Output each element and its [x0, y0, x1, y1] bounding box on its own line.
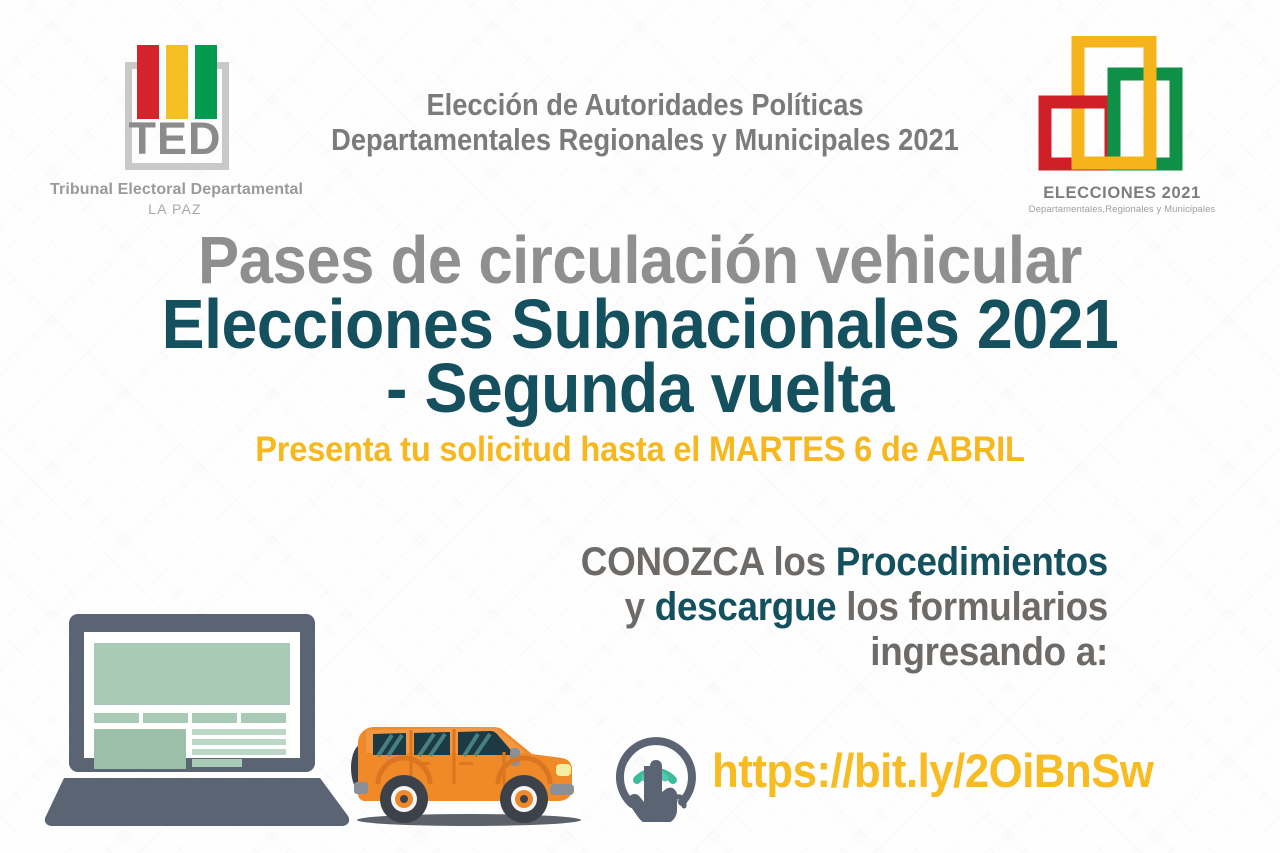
elecciones-2021-emblem: ELECCIONES 2021 Departamentales,Regional… — [1022, 36, 1222, 215]
headline-line-2: Elecciones Subnacionales 2021 — [51, 290, 1229, 359]
cta-line1-plain: CONOZCA los — [581, 540, 836, 584]
cta-line2-plain-a: y — [625, 585, 655, 629]
ted-logo: TED Tribunal Electoral Departamental LA … — [50, 45, 300, 217]
emblem-title: ELECCIONES 2021 — [1022, 184, 1222, 203]
ted-logo-frame-top-right — [215, 62, 229, 69]
suv-car-illustration — [344, 706, 589, 836]
ted-bar-green — [195, 45, 217, 119]
ted-bar-red — [137, 45, 159, 119]
headline-deadline: Presenta tu solicitud hasta el MARTES 6 … — [45, 433, 1235, 467]
header-title-line2: Departamentales Regionales y Municipales… — [306, 123, 984, 158]
cta-line1-emphasis: Procedimientos — [836, 540, 1108, 584]
cta-line2-emphasis: descargue — [655, 585, 837, 629]
ted-logo-letters: TED — [113, 116, 237, 161]
cta-text-block: CONOZCA los Procedimientos y descargue l… — [488, 540, 1108, 674]
cta-line-3: ingresando a: — [538, 630, 1108, 675]
emblem-shapes-icon — [1022, 36, 1222, 186]
emblem-subtitle: Departamentales,Regionales y Municipales — [1022, 204, 1222, 215]
car-icon — [344, 706, 589, 836]
laptop-illustration — [42, 612, 362, 837]
ted-bar-yellow — [166, 45, 188, 119]
laptop-icon — [42, 612, 362, 837]
link-row[interactable]: https://bit.ly/2OiBnSw — [612, 718, 1187, 822]
header-title-line1: Elección de Autoridades Políticas — [306, 88, 984, 123]
cta-line2-plain-b: los formularios — [836, 585, 1108, 629]
emblem-artwork — [1022, 36, 1222, 186]
bitly-url-link[interactable]: https://bit.ly/2OiBnSw — [712, 743, 1153, 798]
ted-logo-mark: TED — [113, 45, 237, 173]
click-hand-icon — [612, 718, 698, 822]
ted-logo-caption-primary: Tribunal Electoral Departamental — [50, 181, 300, 199]
cta-line-1: CONOZCA los Procedimientos — [538, 540, 1108, 585]
cta-line-2: y descargue los formularios — [538, 585, 1108, 630]
header-title: Elección de Autoridades Políticas Depart… — [306, 88, 984, 157]
headline-block: Pases de circulación vehicular Eleccione… — [0, 228, 1280, 467]
ted-logo-caption-city: LA PAZ — [50, 201, 300, 217]
headline-line-3: - Segunda vuelta — [51, 354, 1229, 423]
